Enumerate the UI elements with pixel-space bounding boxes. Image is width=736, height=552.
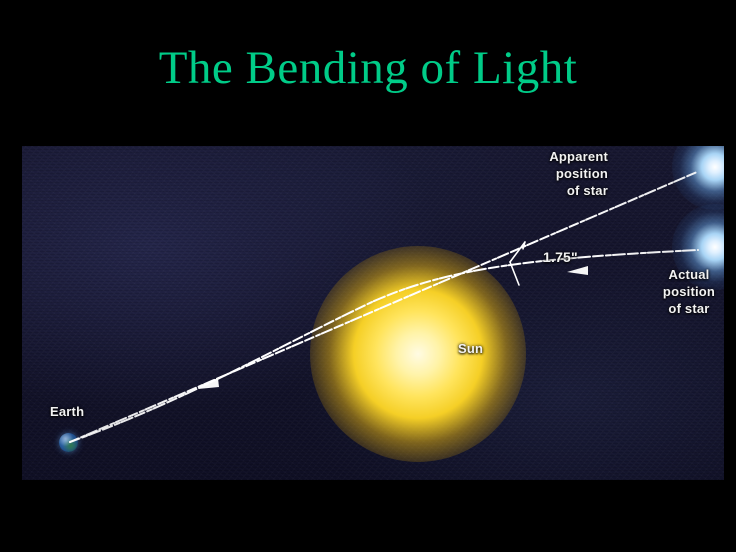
apparent-light-ray [70, 172, 697, 442]
earth-label: Earth [50, 403, 84, 420]
deflection-angle-label: 1.75" [543, 249, 578, 266]
light-ray-paths [22, 146, 724, 480]
slide: The Bending of Light [0, 0, 736, 552]
page-title: The Bending of Light [0, 44, 736, 93]
gravitational-lensing-figure: Apparent position of star Actual positio… [22, 146, 724, 480]
apparent-position-label: Apparent position of star [488, 148, 608, 199]
actual-light-ray [70, 250, 698, 442]
sun-label: Sun [458, 340, 483, 357]
actual-position-label: Actual position of star [642, 266, 724, 317]
